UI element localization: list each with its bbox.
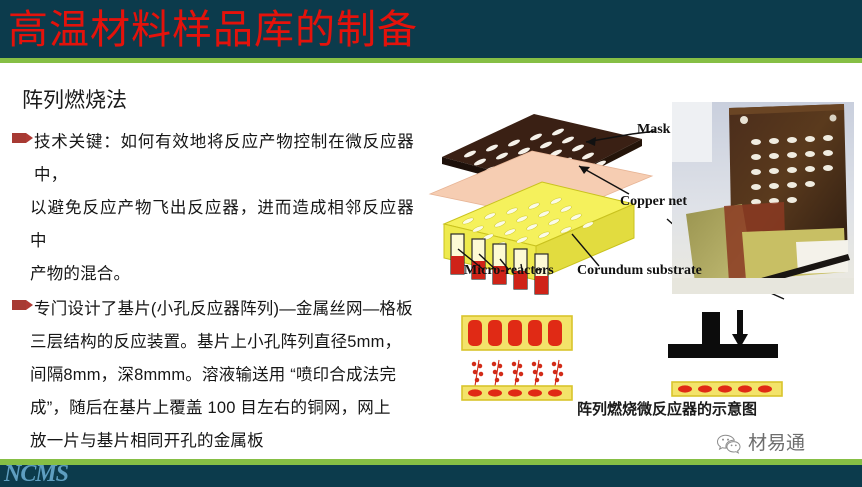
bullet-line: 技术关键：如何有效地将反应产物控制在微反应器中， — [34, 126, 414, 192]
reactor-cross-section — [462, 310, 782, 400]
bullet-line: 以避免反应产物飞出反应器，进而造成相邻反应器中 — [30, 192, 414, 258]
bullet-line: 三层结构的反应装置。基片上小孔阵列直径5mm， — [30, 326, 414, 359]
bullet-line: 成”，随后在基片上覆盖 100 目左右的铜网，网上 — [30, 392, 414, 425]
label-copper-net: Copper net — [620, 194, 687, 210]
figure-diagram — [424, 94, 854, 424]
watermark: 材易通 — [716, 430, 856, 458]
wechat-icon — [716, 433, 742, 455]
bullet-line: 专门设计了基片(小孔反应器阵列)—金属丝网—格板 — [34, 293, 414, 326]
pennant-bullet-icon — [12, 132, 34, 144]
label-micro-reactors: Micro-reactors — [464, 263, 554, 279]
bullet-line: 放一片与基片相同开孔的金属板 — [30, 425, 414, 458]
watermark-label: 材易通 — [748, 433, 805, 455]
bullet-list: 技术关键：如何有效地将反应产物控制在微反应器中， 以避免反应产物飞出反应器，进而… — [8, 126, 414, 460]
page-title: 高温材料样品库的制备 — [8, 4, 708, 56]
bullet-line: 间隔8mm，深8mmm。溶液输送用 “喷印合成法完 — [30, 359, 414, 392]
section-subtitle: 阵列燃烧法 — [22, 84, 127, 114]
header-accent-line — [0, 58, 862, 63]
label-mask: Mask — [637, 122, 670, 138]
bullet-item: 专门设计了基片(小孔反应器阵列)—金属丝网—格板 三层结构的反应装置。基片上小孔… — [8, 293, 414, 458]
ncms-logo: NCMS — [4, 462, 134, 487]
slide: 高温材料样品库的制备 阵列燃烧法 技术关键：如何有效地将反应产物控制在微反应器中… — [0, 0, 862, 487]
bullet-item: 技术关键：如何有效地将反应产物控制在微反应器中， 以避免反应产物飞出反应器，进而… — [8, 126, 414, 291]
pennant-bullet-icon — [12, 299, 34, 311]
figure-caption: 阵列燃烧微反应器的示意图 — [557, 398, 777, 419]
bullet-line: 产物的混合。 — [30, 258, 414, 291]
label-corundum-substrate: Corundum substrate — [577, 263, 702, 279]
